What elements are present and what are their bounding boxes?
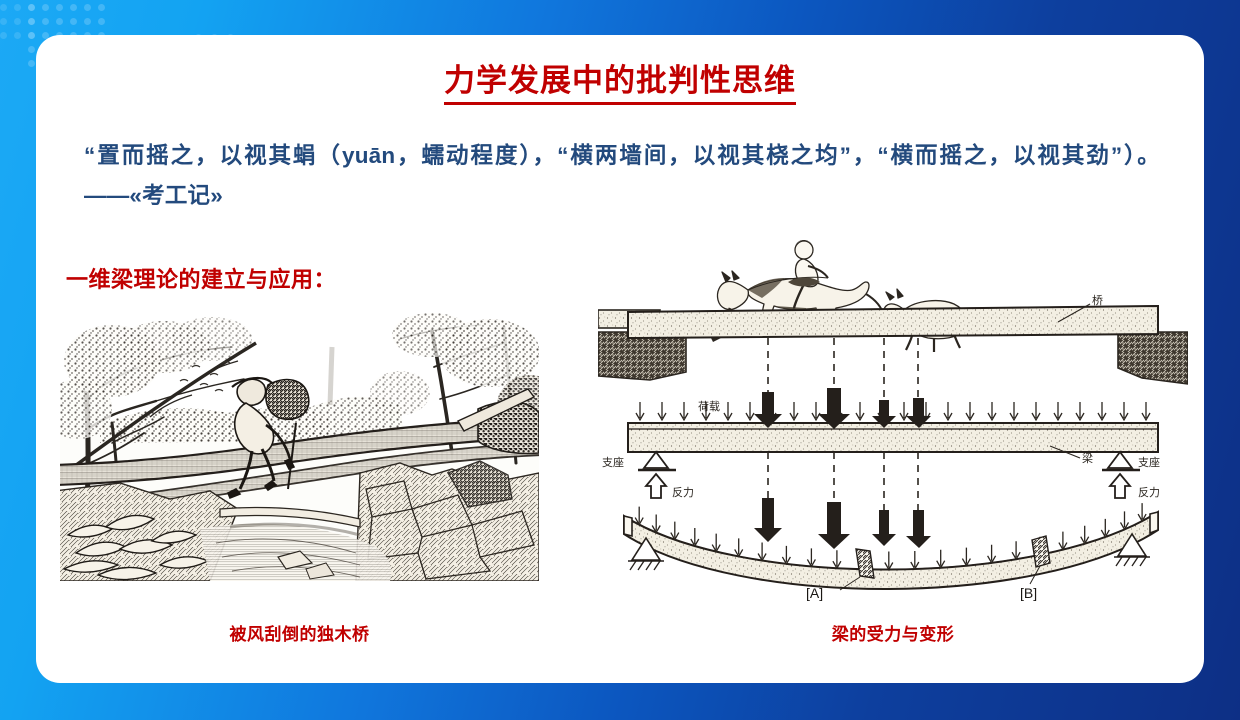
slide-content-card: 力学发展中的批判性思维 “置而摇之，以视其蜎（yuān，蠕动程度），“横两墙间，… xyxy=(36,35,1204,683)
label-beam: 梁 xyxy=(1082,451,1093,465)
label-support-right: 支座 xyxy=(1138,455,1160,469)
slide-canvas: 力学发展中的批判性思维 “置而摇之，以视其蜎（yuān，蠕动程度），“横两墙间，… xyxy=(0,0,1240,720)
caption-left-figure: 被风刮倒的独木桥 xyxy=(60,620,539,645)
page-title: 力学发展中的批判性思维 xyxy=(36,55,1204,100)
label-support-left: 支座 xyxy=(602,455,624,469)
label-reaction-right: 反力 xyxy=(1138,486,1160,499)
section-subheading: 一维梁理论的建立与应用： xyxy=(66,262,336,294)
label-load: 荷载 xyxy=(698,400,720,413)
label-section-b: [B] xyxy=(1020,585,1037,601)
fallen-log-bridge-illustration xyxy=(60,313,539,581)
dot-pattern-decoration-secondary xyxy=(0,4,42,46)
figure-fallen-log-bridge xyxy=(60,313,539,581)
caption-right-figure: 梁的受力与变形 xyxy=(598,620,1188,645)
quotation-text: “置而摇之，以视其蜎（yuān，蠕动程度），“横两墙间，以视其桡之均”，“横而摇… xyxy=(84,136,1160,216)
label-section-a: [A] xyxy=(806,585,823,601)
beam-diagram-illustration: 桥 xyxy=(598,220,1188,605)
label-reaction-left: 反力 xyxy=(672,486,694,499)
page-title-text: 力学发展中的批判性思维 xyxy=(444,63,796,105)
label-bridge: 桥 xyxy=(1092,294,1103,307)
figure-beam-load-deformation: 桥 xyxy=(598,220,1188,605)
